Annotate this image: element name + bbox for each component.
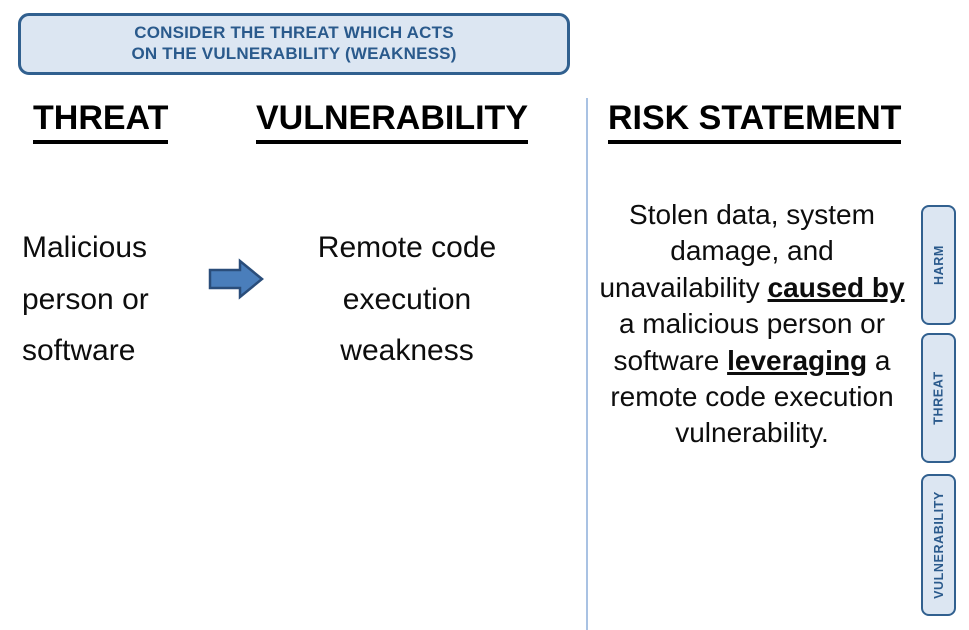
side-tag-vulnerability-label: VULNERABILITY: [932, 491, 946, 599]
column-heading-risk-statement: RISK STATEMENT: [608, 101, 901, 144]
side-tag-threat: THREAT: [921, 333, 956, 463]
risk-statement-text: Stolen data, system damage, and unavaila…: [596, 197, 908, 452]
consider-threat-banner: CONSIDER THE THREAT WHICH ACTS ON THE VU…: [18, 13, 570, 75]
column-heading-vulnerability: VULNERABILITY: [256, 101, 528, 144]
side-tag-threat-label: THREAT: [932, 371, 946, 424]
risk-keyword-leveraging: leveraging: [727, 345, 867, 376]
side-tag-vulnerability: VULNERABILITY: [921, 474, 956, 616]
column-heading-threat: THREAT: [33, 101, 168, 144]
side-tag-harm-label: HARM: [932, 245, 946, 285]
threat-description: Malicious person or software: [22, 222, 202, 377]
banner-line-1: CONSIDER THE THREAT WHICH ACTS: [134, 23, 454, 44]
right-arrow-icon: [208, 258, 264, 300]
side-tag-harm: HARM: [921, 205, 956, 325]
vulnerability-description: Remote code execution weakness: [272, 222, 542, 377]
column-divider: [586, 98, 588, 630]
risk-keyword-caused-by: caused by: [768, 272, 905, 303]
banner-line-2: ON THE VULNERABILITY (WEAKNESS): [131, 44, 456, 65]
